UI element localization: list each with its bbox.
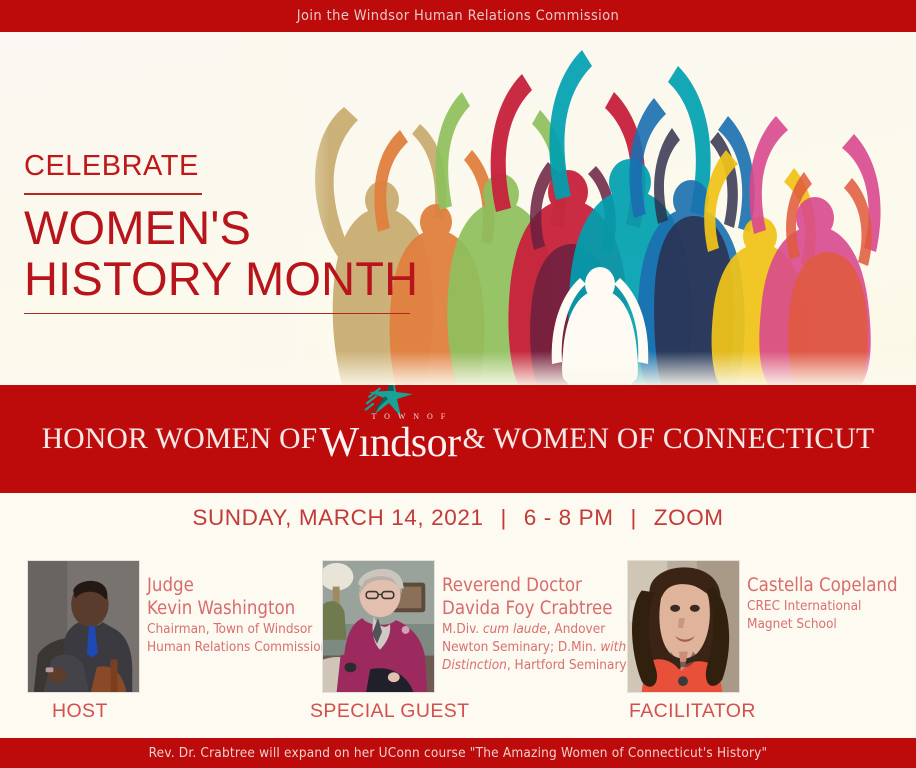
windsor-wordmark-text: Wındsor <box>319 420 460 466</box>
photo-kevin-washington <box>27 560 140 693</box>
speaker-role-facilitator: FACILITATOR <box>629 700 756 723</box>
photo-davida-foy-crabtree <box>322 560 435 693</box>
headline-line-2: HISTORY MONTH <box>24 253 418 304</box>
town-of-label: T O W N O F <box>371 412 448 421</box>
speaker-card-special-guest: Reverend Doctor Davida Foy Crabtree M.Di… <box>322 560 627 693</box>
speaker-credentials: CREC InternationalMagnet School <box>747 597 898 633</box>
top-banner-text: Join the Windsor Human Relations Commiss… <box>297 8 619 24</box>
speaker-card-host: Judge Kevin Washington Chairman, Town of… <box>27 560 328 693</box>
hero-section: CELEBRATE WOMEN'S HISTORY MONTH <box>0 32 916 385</box>
dateline-separator-2: | <box>620 505 646 531</box>
windsor-wordmark-logo: T O W N O F Wındsor <box>319 422 460 464</box>
footer-banner-text: Rev. Dr. Crabtree will expand on her UCo… <box>149 745 768 761</box>
speaker-card-facilitator: Castella Copeland CREC InternationalMagn… <box>627 560 898 693</box>
flyer-poster: Join the Windsor Human Relations Commiss… <box>0 0 916 768</box>
speaker-name-line-2: Kevin Washington <box>147 597 328 620</box>
top-banner: Join the Windsor Human Relations Commiss… <box>0 0 916 32</box>
speaker-name-line-2: Davida Foy Crabtree <box>442 597 627 620</box>
speaker-role-host: HOST <box>52 700 108 723</box>
speaker-name-line-1: Reverend Doctor <box>442 574 627 597</box>
dateline-separator-1: | <box>490 505 516 531</box>
event-dateline: SUNDAY, MARCH 14, 2021 | 6 - 8 PM | ZOOM <box>0 505 916 531</box>
honor-text-before: HONOR WOMEN OF <box>42 423 318 456</box>
headline-block: CELEBRATE WOMEN'S HISTORY MONTH <box>24 150 418 314</box>
speaker-role-special-guest: SPECIAL GUEST <box>310 700 469 723</box>
speaker-name-line-1: Judge <box>147 574 328 597</box>
photo-castella-copeland <box>627 560 740 693</box>
footer-banner: Rev. Dr. Crabtree will expand on her UCo… <box>0 738 916 768</box>
headline-rule-bottom <box>24 313 410 315</box>
event-platform: ZOOM <box>654 505 724 530</box>
event-time: 6 - 8 PM <box>524 505 614 530</box>
speaker-name-line-1: Castella Copeland <box>747 574 898 597</box>
speakers-section: Judge Kevin Washington Chairman, Town of… <box>0 560 916 730</box>
speaker-credentials: M.Div. cum laude, AndoverNewton Seminary… <box>442 620 627 674</box>
headline-kicker: CELEBRATE <box>24 150 418 183</box>
headline-line-1: WOMEN'S <box>24 202 418 253</box>
headline-rule-top <box>24 193 202 195</box>
honor-banner: HONOR WOMEN OF T O W N O F Wındsor & WOM… <box>0 385 916 493</box>
event-date: SUNDAY, MARCH 14, 2021 <box>192 505 483 530</box>
honor-text-after: & WOMEN OF CONNECTICUT <box>463 423 875 456</box>
speaker-credentials: Chairman, Town of WindsorHuman Relations… <box>147 620 328 656</box>
